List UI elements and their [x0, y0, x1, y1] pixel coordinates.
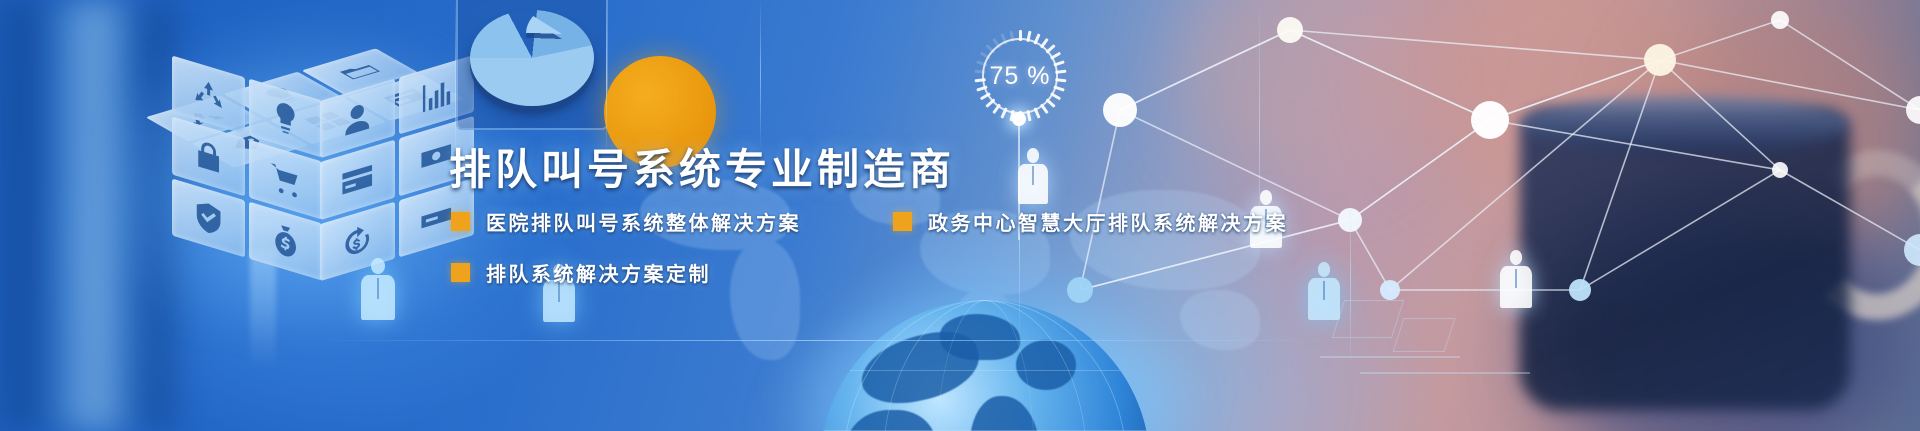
guide-line-6 [1350, 190, 1351, 370]
feature-bullet-2: 政务中心智慧大厅排队系统解决方案 [893, 207, 1288, 236]
hud-line-1 [1320, 356, 1460, 358]
person-pictogram [1500, 250, 1532, 308]
icon-cube [172, 14, 472, 264]
bullet-square-icon [893, 212, 912, 231]
feature-bullet-3: 排队系统解决方案定制 [451, 258, 711, 287]
feature-bullet-2-label: 政务中心智慧大厅排队系统解决方案 [928, 207, 1288, 236]
bullet-square-icon [451, 263, 470, 282]
feature-bullet-1-label: 医院排队叫号系统整体解决方案 [486, 207, 801, 236]
person-pictogram [361, 258, 395, 320]
page-title: 排队叫号系统专业制造商 [449, 136, 955, 197]
network-graph [1020, 0, 1920, 310]
hero-banner: 75 % [0, 0, 1920, 431]
background-band-left [0, 0, 60, 431]
guide-line-3 [760, 0, 761, 150]
cube-base-light [250, 250, 276, 370]
feature-bullet-3-label: 排队系统解决方案定制 [486, 258, 711, 287]
pie-slice-exploded [526, 4, 598, 64]
pie-chart [470, 4, 602, 108]
hud-line-2 [1360, 372, 1530, 374]
person-pictogram [1018, 148, 1048, 204]
feature-bullet-1: 医院排队叫号系统整体解决方案 [451, 207, 801, 236]
hud-rect-1 [1332, 300, 1404, 338]
person-pictogram [1308, 262, 1340, 320]
hud-rect-2 [1392, 318, 1455, 352]
bullet-square-icon [451, 212, 470, 231]
bottom-hairline [310, 340, 1350, 341]
